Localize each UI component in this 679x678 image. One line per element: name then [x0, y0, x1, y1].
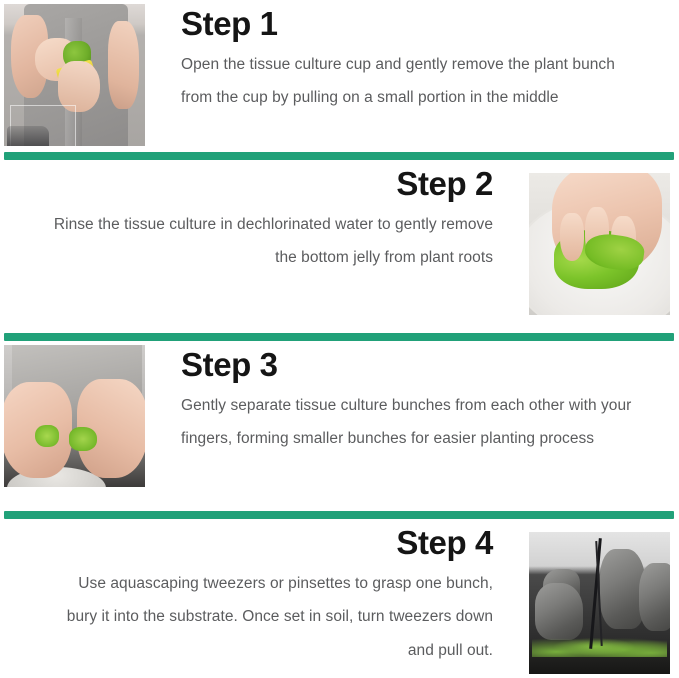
- step-1-photo: [4, 4, 145, 146]
- divider-2: [4, 333, 674, 341]
- step-4-text-column: Step 4 Use aquascaping tweezers or pinse…: [0, 519, 529, 668]
- step-4-title: Step 4: [44, 521, 493, 561]
- step-2-text-column: Step 2 Rinse the tissue culture in dechl…: [0, 160, 529, 275]
- step-3-text-column: Step 3 Gently separate tissue culture bu…: [145, 341, 679, 456]
- step-3-description: Gently separate tissue culture bunches f…: [181, 389, 635, 457]
- step-row-1: Step 1 Open the tissue culture cup and g…: [0, 0, 679, 152]
- photo-rock-center: [600, 549, 645, 629]
- photo-green-plant-left: [35, 425, 59, 448]
- step-1-text-column: Step 1 Open the tissue culture cup and g…: [145, 0, 679, 115]
- step-1-description: Open the tissue culture cup and gently r…: [181, 48, 635, 116]
- steps-infographic: Step 1 Open the tissue culture cup and g…: [0, 0, 679, 678]
- photo-rock-right: [639, 563, 670, 631]
- photo-finger-1: [560, 213, 584, 261]
- step-3-photo: [4, 345, 145, 487]
- step-row-3: Step 3 Gently separate tissue culture bu…: [0, 341, 679, 511]
- step-4-description: Use aquascaping tweezers or pinsettes to…: [44, 567, 493, 668]
- divider-1: [4, 152, 674, 160]
- step-4-photo: [529, 532, 670, 674]
- step-2-description: Rinse the tissue culture in dechlorinate…: [44, 208, 493, 276]
- photo-right-arm: [108, 21, 139, 109]
- step-3-title: Step 3: [181, 343, 635, 383]
- step-1-title: Step 1: [181, 2, 635, 42]
- photo-dark-corner: [7, 126, 49, 146]
- step-2-photo: [529, 173, 670, 315]
- step-row-4: Step 4 Use aquascaping tweezers or pinse…: [0, 519, 679, 678]
- photo-green-plant-right: [69, 427, 97, 451]
- step-row-2: Step 2 Rinse the tissue culture in dechl…: [0, 160, 679, 333]
- photo-lower-hand: [58, 61, 100, 112]
- divider-3: [4, 511, 674, 519]
- step-2-title: Step 2: [44, 162, 493, 202]
